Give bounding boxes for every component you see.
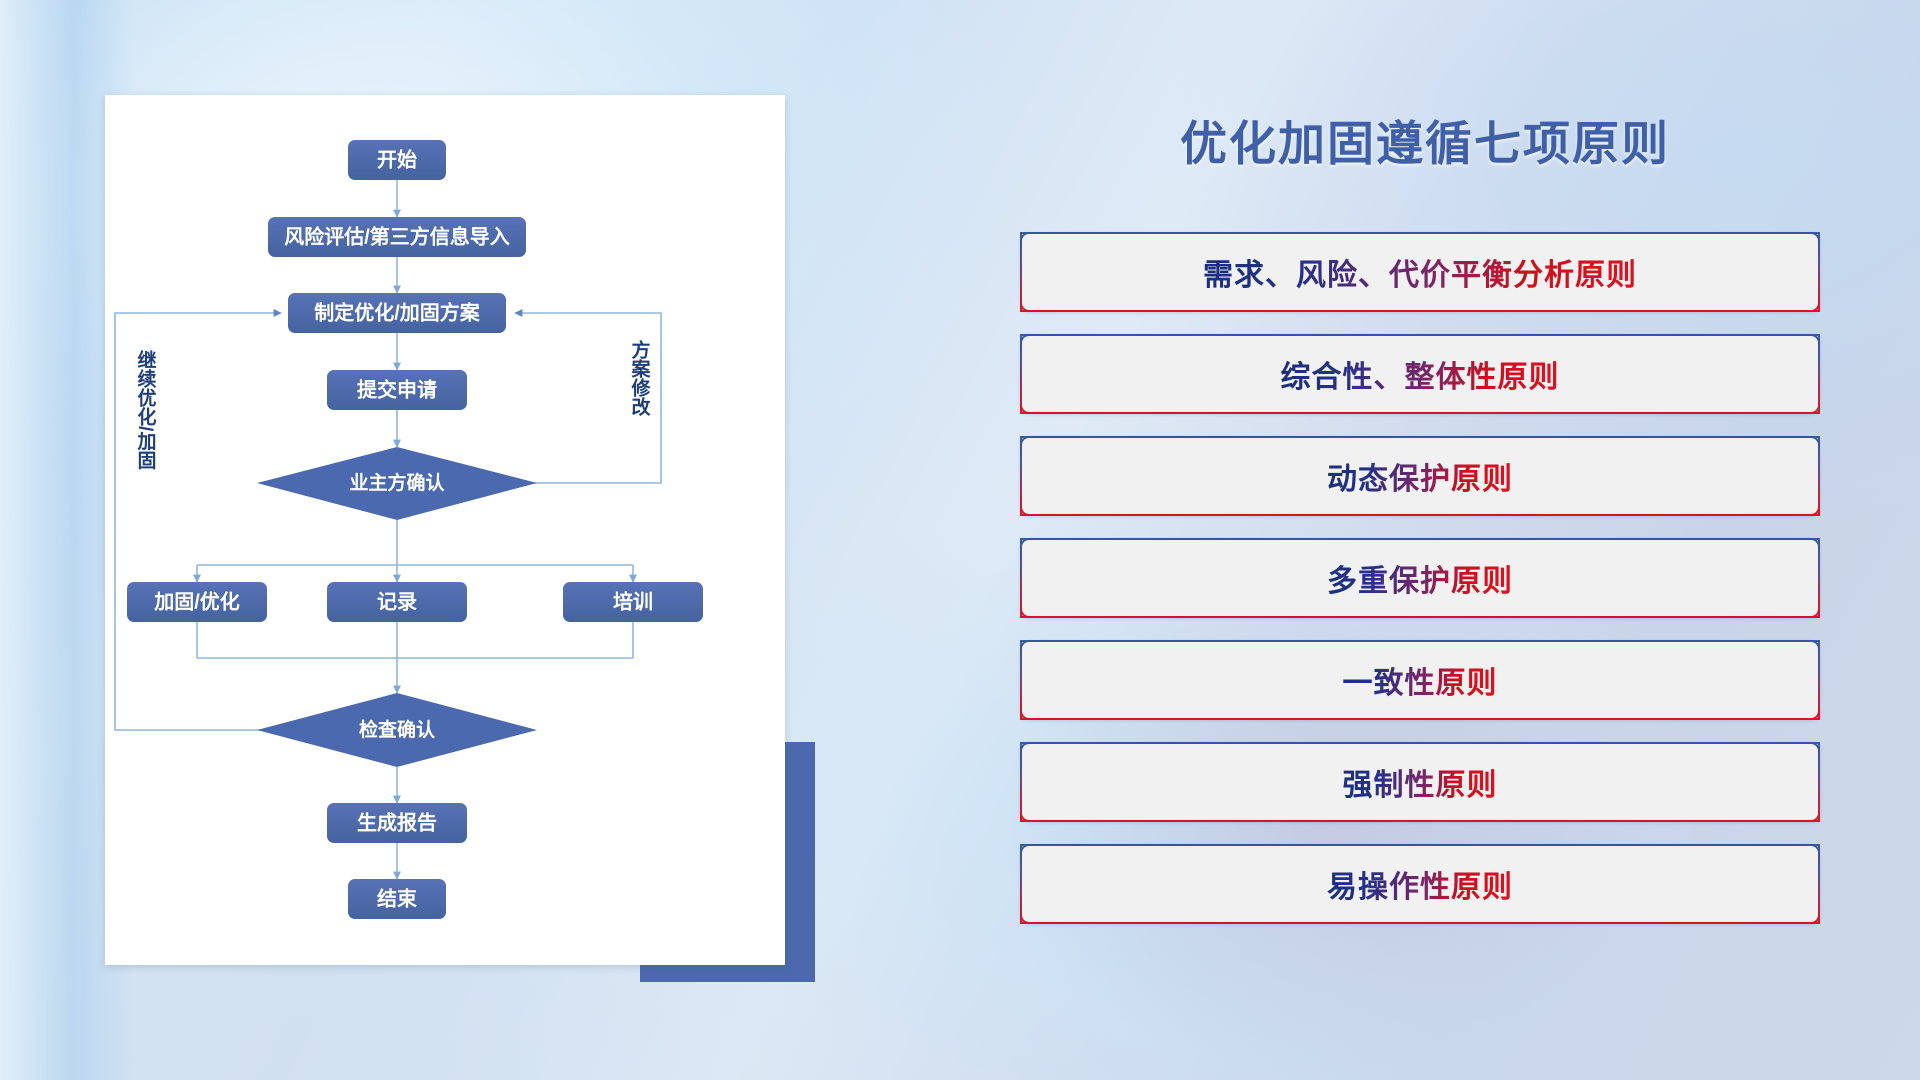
- flow-node-assess-label: 风险评估/第三方信息导入: [284, 224, 510, 248]
- flow-node-submit-label: 提交申请: [357, 377, 437, 401]
- principle-card-7[interactable]: 易操作性原则: [1020, 844, 1820, 924]
- flow-node-report[interactable]: 生成报告: [327, 803, 467, 843]
- principle-card-2-label: 综合性、整体性原则: [1281, 352, 1560, 396]
- flow-node-record-label: 记录: [377, 590, 417, 613]
- principles-card-list: 需求、风险、代价平衡分析原则 综合性、整体性原则 动态保护原则 多重保护原则 一…: [1020, 232, 1820, 946]
- edge-label-continue-optimize: 继续优化/加固: [135, 349, 158, 470]
- flow-node-owner-confirm[interactable]: 业主方确认: [257, 447, 537, 520]
- principle-card-3[interactable]: 动态保护原则: [1020, 436, 1820, 516]
- flow-node-record[interactable]: 记录: [327, 582, 467, 622]
- flow-node-reinforce[interactable]: 加固/优化: [127, 582, 267, 622]
- edge-label-plan-revision: 方案修改: [629, 339, 652, 417]
- principle-card-1-label: 需求、风险、代价平衡分析原则: [1203, 250, 1637, 294]
- principle-card-1[interactable]: 需求、风险、代价平衡分析原则: [1020, 232, 1820, 312]
- principles-title: 优化加固遵循七项原则: [1010, 105, 1840, 174]
- principle-card-7-label: 易操作性原则: [1327, 862, 1513, 906]
- flow-node-end[interactable]: 结束: [348, 879, 446, 919]
- principle-card-3-label: 动态保护原则: [1327, 454, 1513, 498]
- flow-node-start[interactable]: 开始: [348, 140, 446, 180]
- flowchart-panel: 开始 风险评估/第三方信息导入 制定优化/加固方案 提交申请 业主方确认 加固/…: [105, 95, 785, 965]
- flow-node-assess[interactable]: 风险评估/第三方信息导入: [268, 217, 526, 257]
- flow-node-plan-label: 制定优化/加固方案: [314, 300, 481, 324]
- flow-node-train[interactable]: 培训: [563, 582, 703, 622]
- principle-card-6-label: 强制性原则: [1343, 760, 1498, 804]
- flow-node-submit[interactable]: 提交申请: [327, 370, 467, 410]
- flow-node-owner-confirm-label: 业主方确认: [349, 471, 444, 494]
- flowchart-svg: 开始 风险评估/第三方信息导入 制定优化/加固方案 提交申请 业主方确认 加固/…: [105, 95, 785, 965]
- principle-card-4-label: 多重保护原则: [1327, 556, 1513, 600]
- flow-node-plan[interactable]: 制定优化/加固方案: [288, 293, 506, 333]
- principle-card-5-label: 一致性原则: [1343, 658, 1498, 702]
- principle-card-2[interactable]: 综合性、整体性原则: [1020, 334, 1820, 414]
- flow-node-report-label: 生成报告: [357, 810, 437, 834]
- flow-node-end-label: 结束: [377, 886, 418, 910]
- principle-card-4[interactable]: 多重保护原则: [1020, 538, 1820, 618]
- flow-node-check[interactable]: 检查确认: [257, 693, 537, 767]
- principle-card-6[interactable]: 强制性原则: [1020, 742, 1820, 822]
- flow-node-reinforce-label: 加固/优化: [153, 589, 240, 613]
- flow-node-start-label: 开始: [377, 147, 417, 171]
- principles-section: 优化加固遵循七项原则 需求、风险、代价平衡分析原则 综合性、整体性原则 动态保护…: [1010, 0, 1840, 1080]
- flow-node-check-label: 检查确认: [359, 718, 435, 741]
- principle-card-5[interactable]: 一致性原则: [1020, 640, 1820, 720]
- flow-node-train-label: 培训: [613, 589, 653, 613]
